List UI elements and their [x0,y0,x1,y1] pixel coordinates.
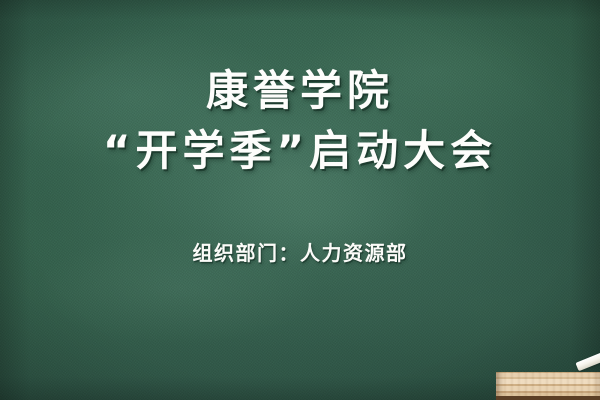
chalkboard-title-slide: 康誉学院 “开学季”启动大会 组织部门：人力资源部 [0,0,600,400]
slide-title-line-1: 康誉学院 [206,64,394,118]
slide-content: 康誉学院 “开学季”启动大会 组织部门：人力资源部 [0,0,600,400]
slide-title-line-2: “开学季”启动大会 [103,124,497,178]
chalk-ledge [496,372,600,400]
chalk-ledge-edge-shading [496,372,600,400]
slide-subtitle-organizing-department: 组织部门：人力资源部 [193,240,408,266]
